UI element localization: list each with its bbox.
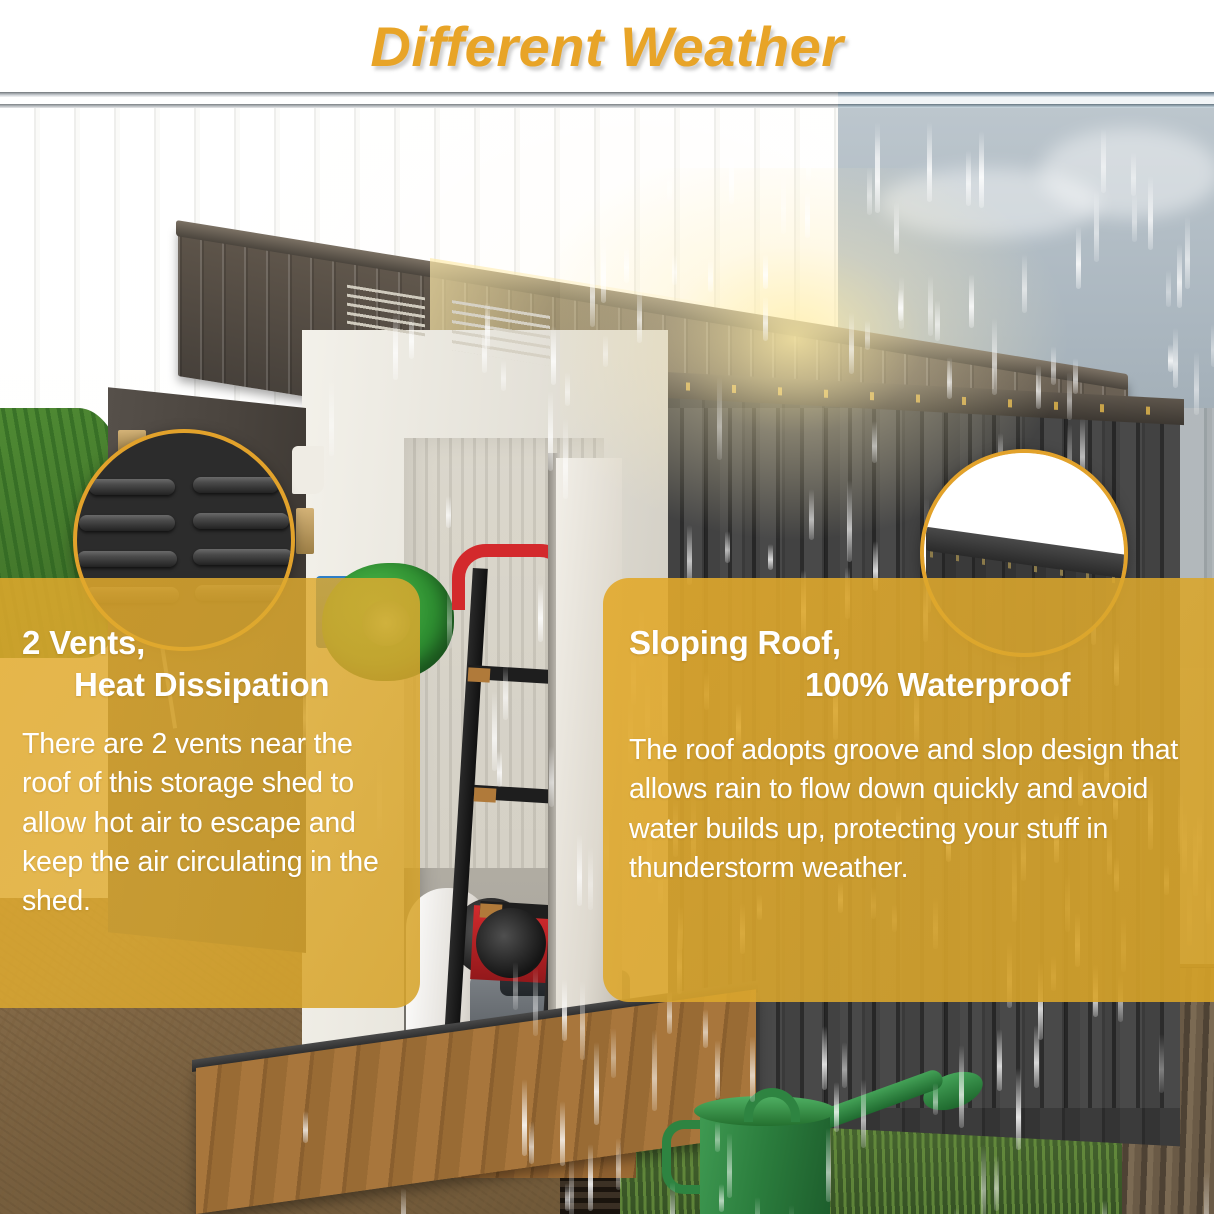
infographic-page: Different Weather <box>0 0 1214 1214</box>
hand-truck-wheel <box>476 908 546 978</box>
door-hinge <box>296 508 314 554</box>
panel-left-heading-line2: Heat Dissipation <box>22 664 398 706</box>
panel-right-body: The roof adopts groove and slop design t… <box>629 731 1192 888</box>
hand-truck-rung-tape <box>474 787 497 802</box>
louver-icon <box>89 479 175 495</box>
louver-icon <box>193 477 279 493</box>
page-title: Different Weather <box>370 14 843 79</box>
panel-right-heading: Sloping Roof, 100% Waterproof <box>629 622 1192 705</box>
louver-icon <box>193 549 293 565</box>
panel-right-heading-line2: 100% Waterproof <box>629 664 1192 706</box>
louver-icon <box>77 551 177 567</box>
door-bracket <box>292 446 324 494</box>
feature-panel-vents: 2 Vents, Heat Dissipation There are 2 ve… <box>0 578 420 1008</box>
cloud-shape <box>880 168 1100 238</box>
hand-truck-rung-tape <box>468 667 491 682</box>
panel-right-heading-line1: Sloping Roof, <box>629 624 841 661</box>
panel-left-body: There are 2 vents near the roof of this … <box>22 725 398 922</box>
feature-panel-roof: Sloping Roof, 100% Waterproof The roof a… <box>603 578 1214 1002</box>
divider-gap-right <box>838 97 1214 104</box>
louver-icon <box>79 515 175 531</box>
louver-icon <box>193 513 289 529</box>
header-bar: Different Weather <box>0 0 1214 92</box>
panel-left-heading: 2 Vents, Heat Dissipation <box>22 622 398 705</box>
panel-left-heading-line1: 2 Vents, <box>22 624 145 661</box>
